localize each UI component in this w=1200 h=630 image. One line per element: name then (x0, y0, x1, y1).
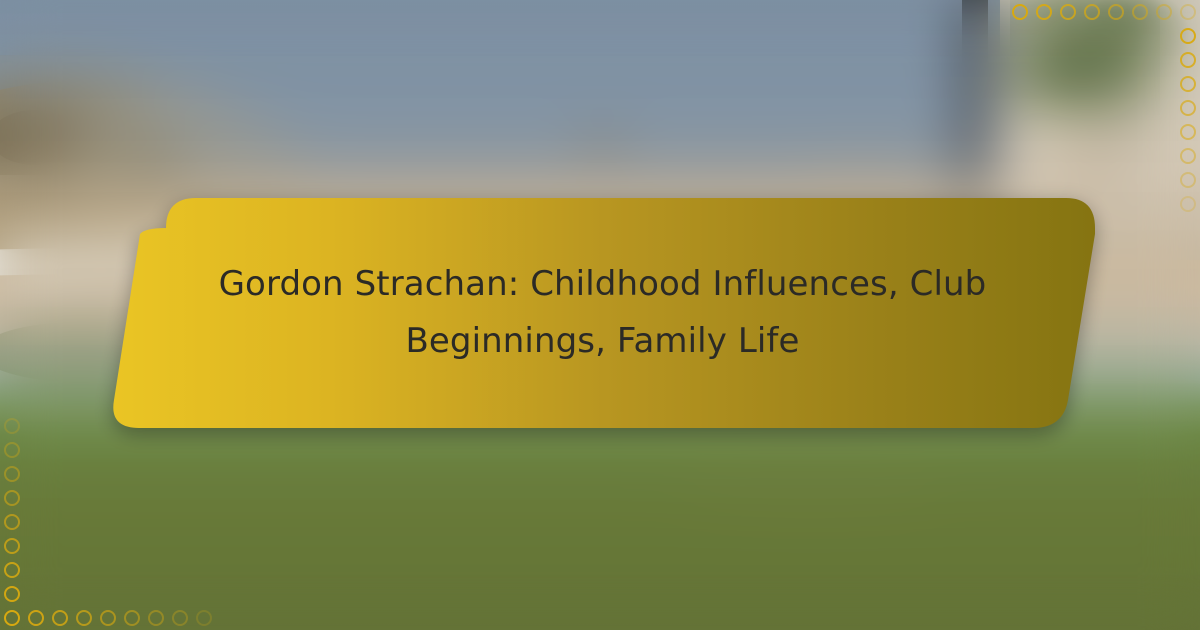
page-title: Gordon Strachan: Childhood Influences, C… (175, 256, 1030, 370)
title-card-canvas: Gordon Strachan: Childhood Influences, C… (0, 0, 1200, 630)
title-text-block: Gordon Strachan: Childhood Influences, C… (175, 198, 1030, 428)
title-card: Gordon Strachan: Childhood Influences, C… (0, 0, 1200, 630)
